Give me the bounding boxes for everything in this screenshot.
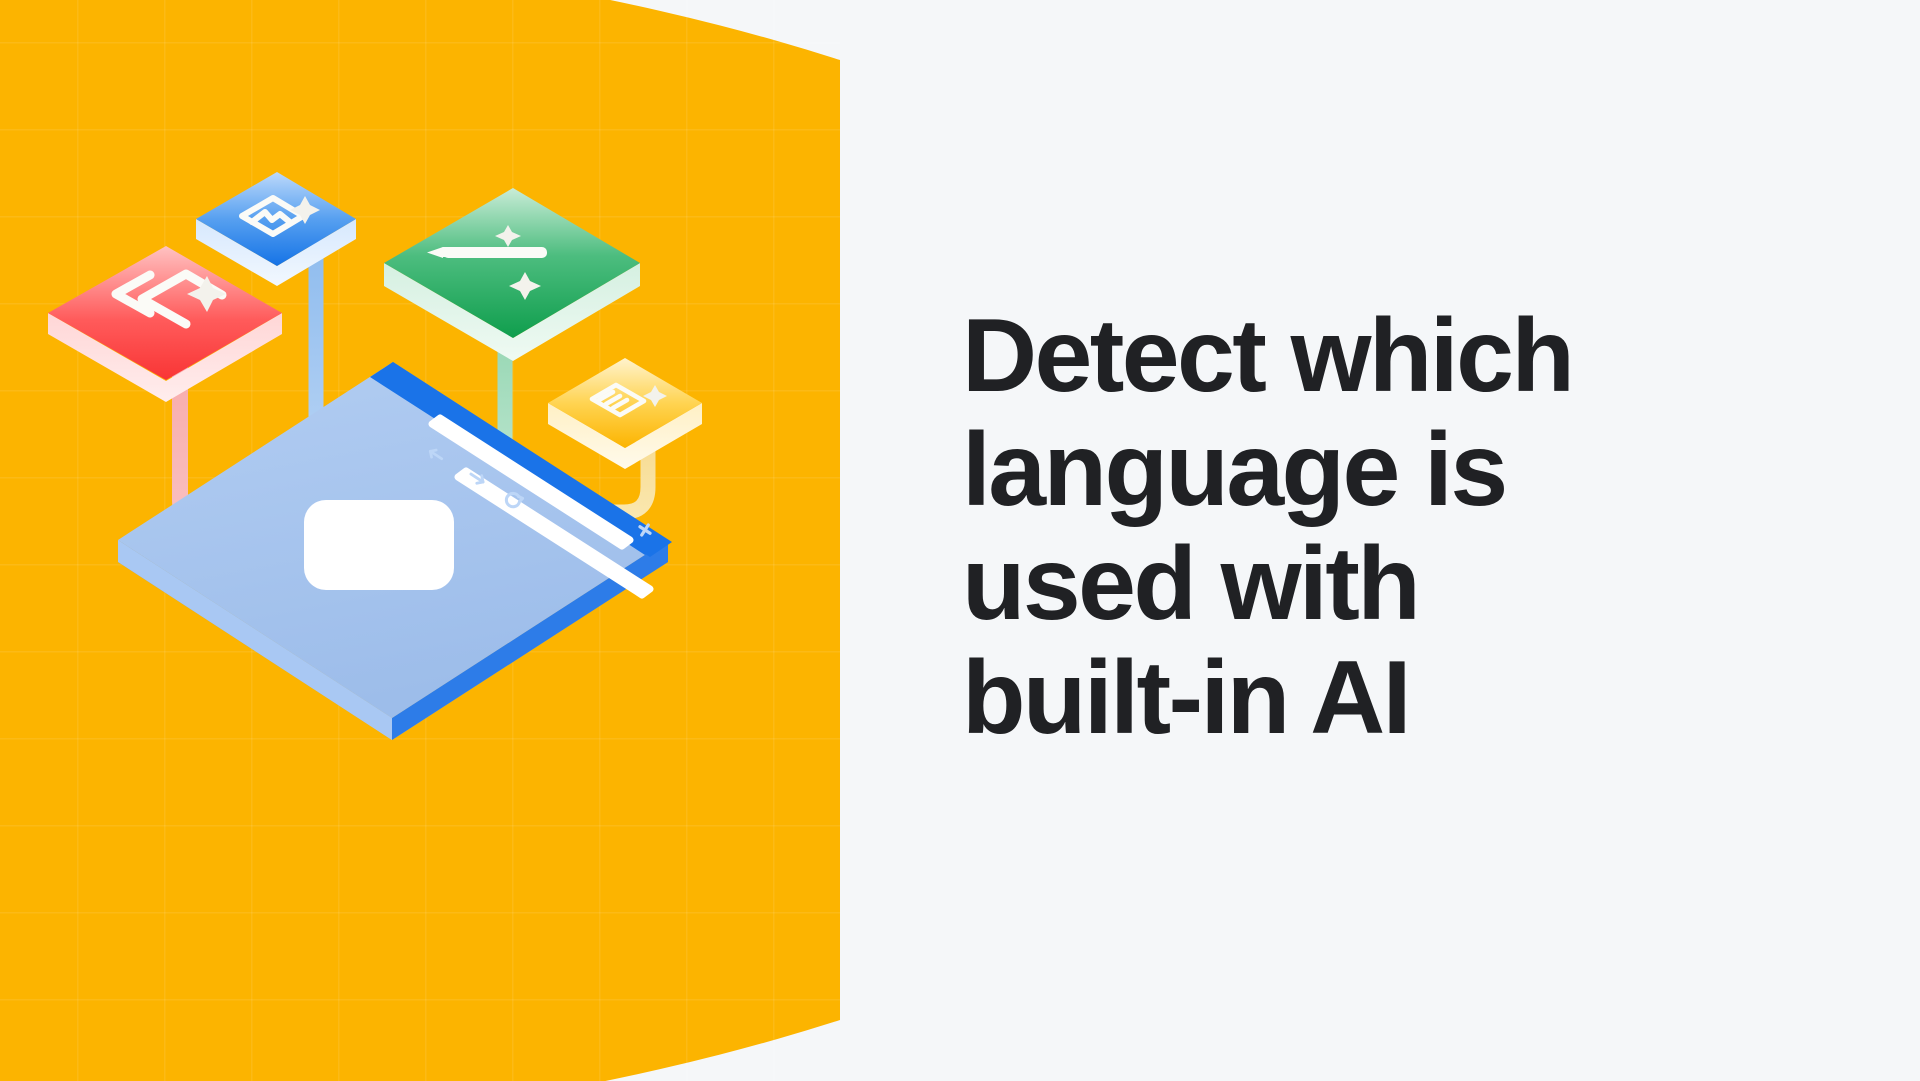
built-in-ai-illustration [0, 0, 860, 1081]
page-title: Detect which [962, 300, 1782, 414]
tile-translator-api [196, 172, 356, 286]
headline-block: Detect which language is used with built… [962, 300, 1782, 756]
tile-writer-api [384, 188, 640, 361]
pencil-sparkle-icon [427, 247, 547, 258]
page-root: Detect which language is used with built… [0, 0, 1920, 1081]
content-card [304, 500, 454, 590]
tile-summarizer-api [548, 358, 702, 469]
page-title-line-2: language is [962, 414, 1782, 528]
page-title-line-3: used with [962, 528, 1782, 642]
page-title-line-4: built-in AI [962, 642, 1782, 756]
tile-prompt-api [48, 246, 282, 402]
